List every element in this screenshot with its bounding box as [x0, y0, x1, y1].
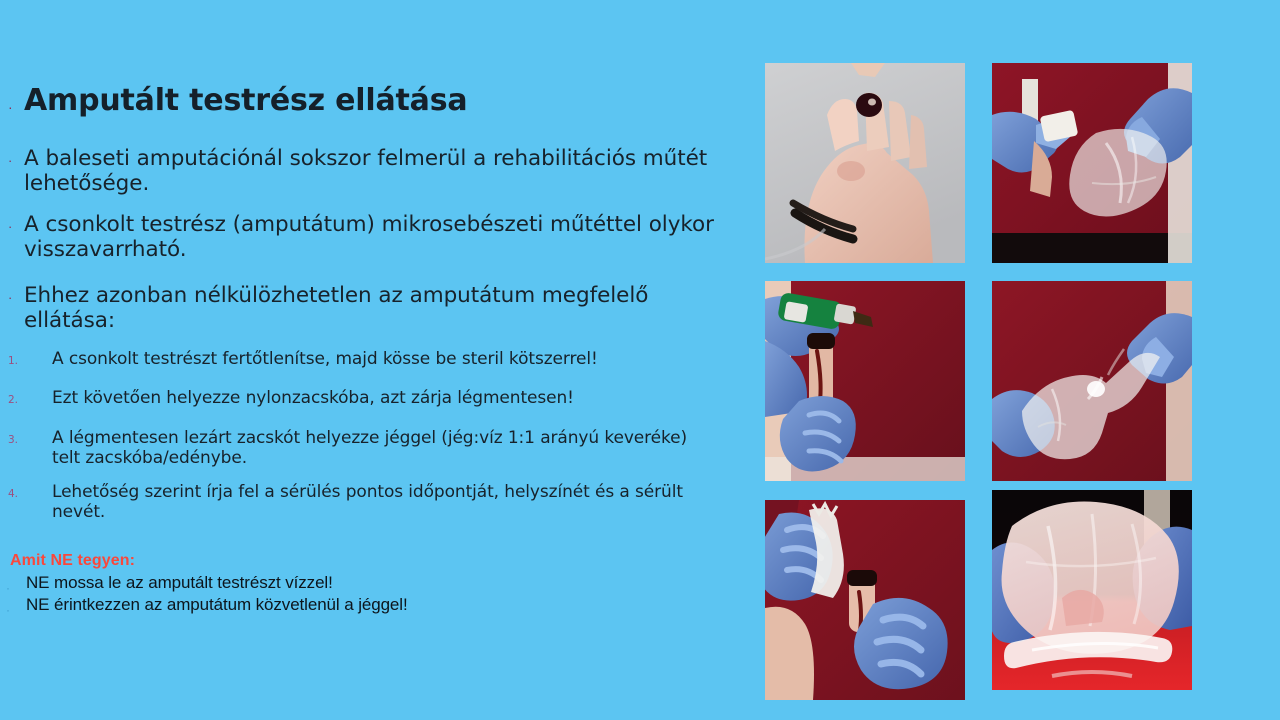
text-column: · Amputált testrész ellátása · A baleset… — [0, 0, 742, 720]
slide-root: · Amputált testrész ellátása · A baleset… — [0, 0, 1280, 720]
numbered-item-3: 3. A légmentesen lezárt zacskót helyezze… — [0, 428, 700, 469]
slide-title-row: · Amputált testrész ellátása — [8, 84, 708, 118]
photo-amputated-finger-hand — [765, 63, 965, 263]
bullet-item-2: · A csonkolt testrész (amputátum) mikros… — [8, 212, 720, 262]
bullet-icon: · — [8, 212, 24, 233]
photo-amputated-finger-hand-image — [765, 63, 965, 263]
warning-item-1: · NE mossa le az amputált testrészt vízz… — [6, 573, 706, 594]
list-number-marker: 2. — [0, 388, 52, 406]
photo-gauze-and-plastic-bag-image — [992, 63, 1192, 263]
list-number-marker: 1. — [0, 349, 52, 367]
bullet-icon: · — [8, 283, 24, 304]
photo-disinfecting-the-stump — [765, 281, 965, 481]
photo-closing-the-bag-airtight — [992, 281, 1192, 481]
photo-closing-the-bag-airtight-image — [992, 281, 1192, 481]
list-number-marker: 3. — [0, 428, 52, 446]
numbered-item-label: Lehetőség szerint írja fel a sérülés pon… — [52, 482, 700, 523]
bullet-item-label: A csonkolt testrész (amputátum) mikroseb… — [24, 212, 720, 262]
photo-disinfecting-the-stump-image — [765, 281, 965, 481]
numbered-item-2: 2. Ezt követően helyezze nylonzacskóba, … — [0, 388, 700, 408]
photo-dressing-the-stump-image — [765, 500, 965, 700]
numbered-item-label: A légmentesen lezárt zacskót helyezze jé… — [52, 428, 700, 469]
warning-heading: Amit NE tegyen: — [10, 552, 135, 570]
bullet-icon: · — [8, 146, 24, 167]
photo-bag-in-ice-water-container-image — [992, 490, 1192, 690]
warning-item-label: NE érintkezzen az amputátum közvetlenül … — [26, 595, 706, 615]
warning-item-label: NE mossa le az amputált testrészt vízzel… — [26, 573, 706, 593]
photo-gauze-and-plastic-bag — [992, 63, 1192, 263]
bullet-icon: · — [6, 595, 26, 616]
list-number-marker: 4. — [0, 482, 52, 500]
bullet-icon: · — [8, 84, 24, 114]
bullet-icon: · — [6, 573, 26, 594]
bullet-item-label: A baleseti amputációnál sokszor felmerül… — [24, 146, 720, 196]
page-title: Amputált testrész ellátása — [24, 84, 708, 118]
bullet-item-1: · A baleseti amputációnál sokszor felmer… — [8, 146, 720, 196]
warning-item-2: · NE érintkezzen az amputátum közvetlenü… — [6, 595, 706, 616]
photo-bag-in-ice-water-container — [992, 490, 1192, 690]
numbered-item-4: 4. Lehetőség szerint írja fel a sérülés … — [0, 482, 700, 523]
bullet-item-label: Ehhez azonban nélkülözhetetlen az amputá… — [24, 283, 720, 333]
numbered-item-1: 1. A csonkolt testrészt fertőtlenítse, m… — [0, 349, 700, 369]
photo-dressing-the-stump — [765, 500, 965, 700]
numbered-item-label: Ezt követően helyezze nylonzacskóba, azt… — [52, 388, 700, 408]
bullet-item-3: · Ehhez azonban nélkülözhetetlen az ampu… — [8, 283, 720, 333]
numbered-item-label: A csonkolt testrészt fertőtlenítse, majd… — [52, 349, 700, 369]
